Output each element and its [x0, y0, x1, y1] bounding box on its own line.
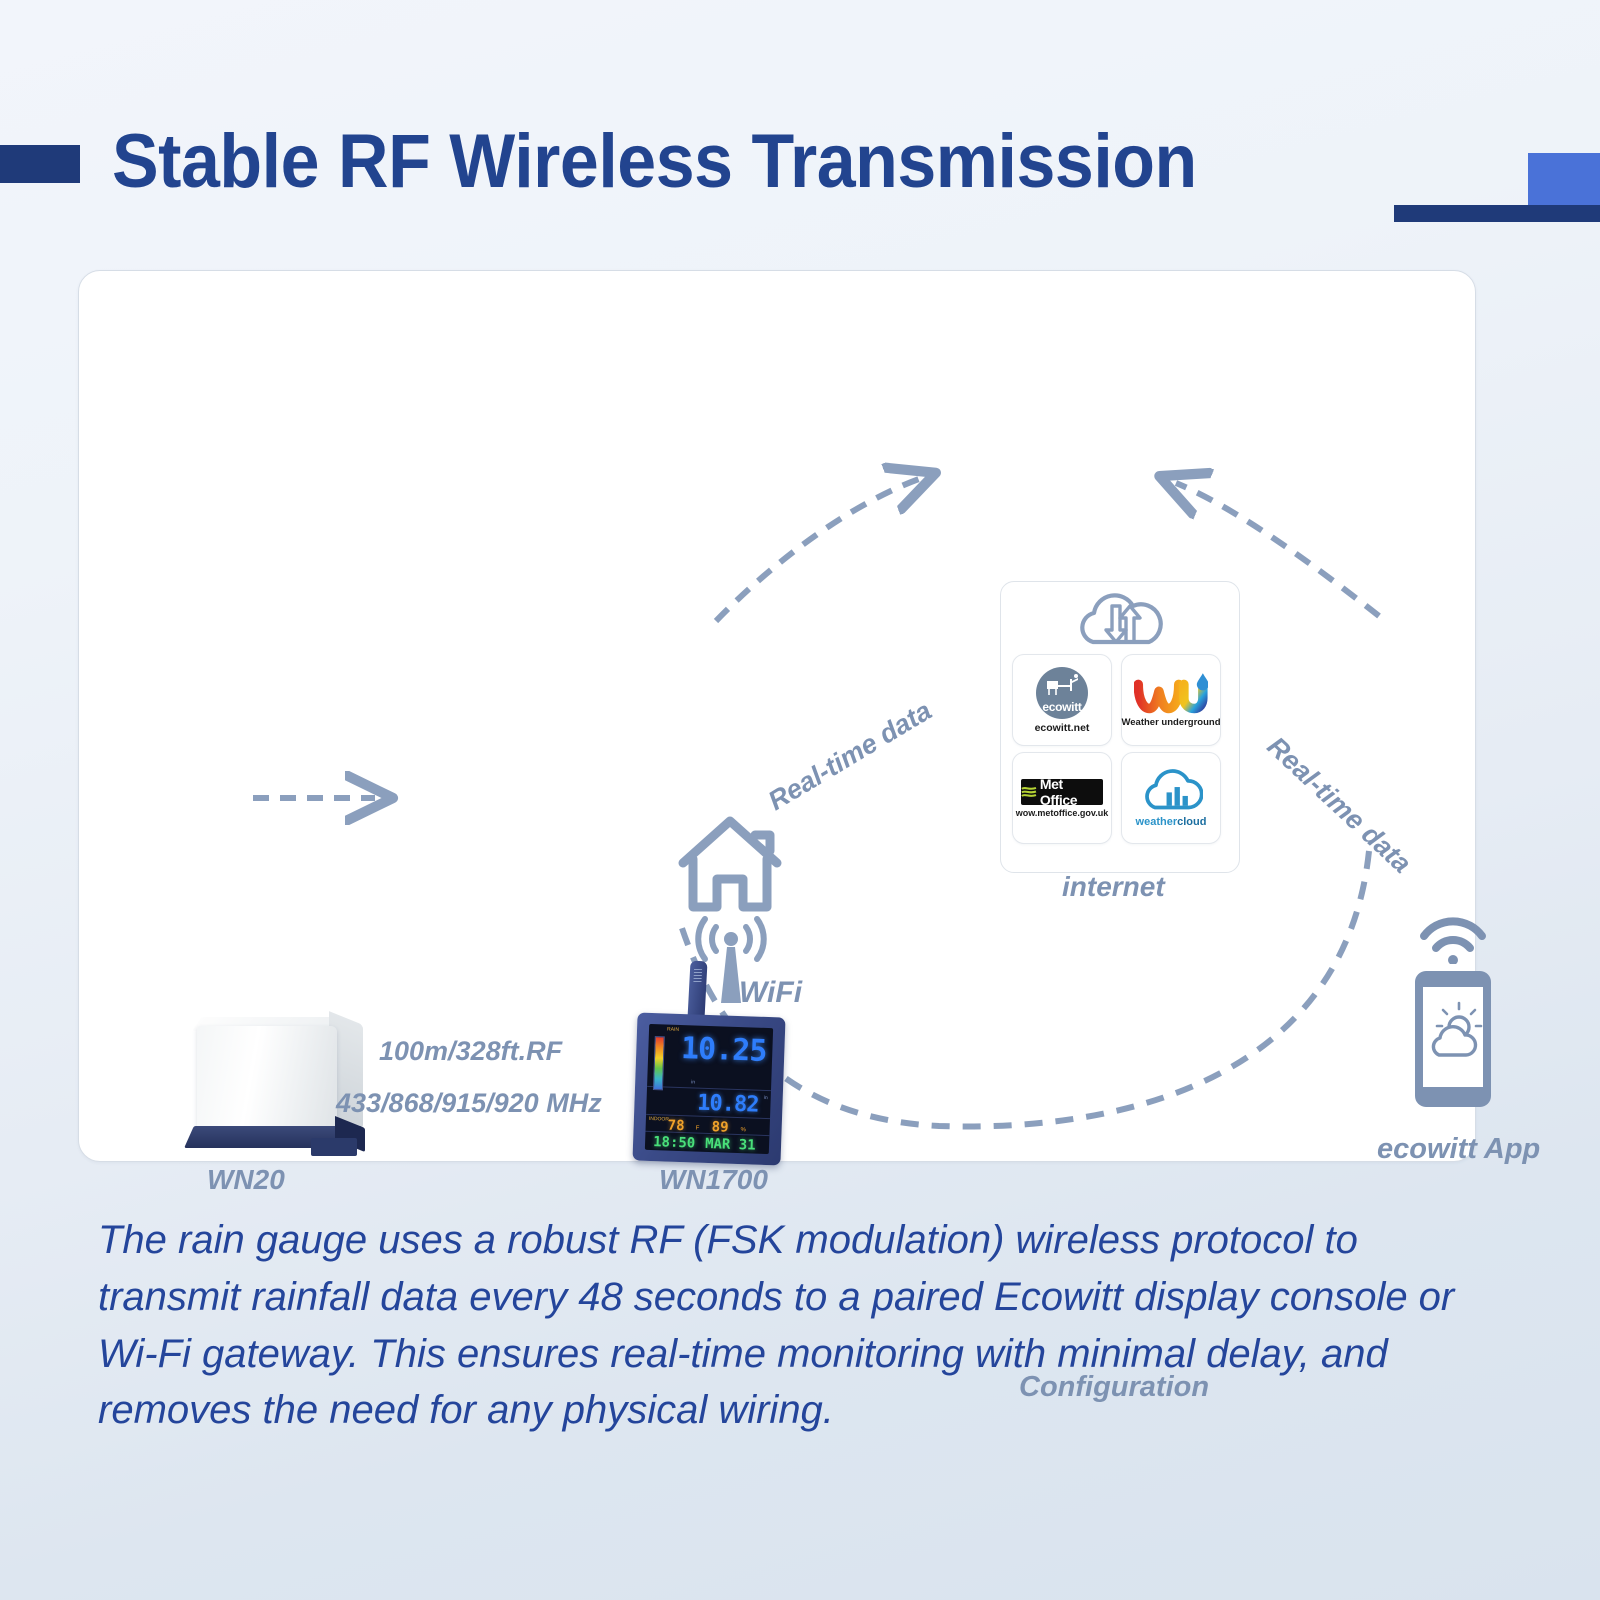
- service-tile-weather-underground[interactable]: Weather underground: [1121, 654, 1221, 746]
- phone-device: [1415, 971, 1491, 1107]
- wn20-body: [197, 1026, 337, 1131]
- service-tile-met-office[interactable]: Met Office wow.metoffice.gov.uk: [1012, 752, 1112, 844]
- console-rain-value: 10.25: [680, 1031, 766, 1069]
- title-accent-bar-left: [0, 145, 80, 183]
- wn1700-frame: RAIN 10.25 in 10.82 in INDOOR 78 F 89 % …: [632, 1012, 785, 1165]
- console-rain-row: RAIN 10.25 in: [647, 1024, 773, 1091]
- weathercloud-text-bold: cloud: [1177, 816, 1206, 828]
- service-caption-ecowitt: ecowitt.net: [1035, 722, 1090, 734]
- page-header: Stable RF Wireless Transmission: [0, 60, 1600, 190]
- wu-logo-icon: [1134, 672, 1208, 714]
- wn1700-console: RAIN 10.25 in 10.82 in INDOOR 78 F 89 % …: [635, 1001, 785, 1166]
- console-date-value: MAR 31: [705, 1135, 756, 1153]
- rf-frequency-label: 433/868/915/920 MHz: [336, 1088, 602, 1119]
- service-tile-weathercloud[interactable]: weathercloud: [1121, 752, 1221, 844]
- weathercloud-text-light: weather: [1136, 816, 1178, 828]
- console-weekly-value: 10.82: [697, 1090, 759, 1117]
- service-caption-met-office: wow.metoffice.gov.uk: [1016, 808, 1109, 818]
- console-clock-row: 18:50 MAR 31: [645, 1131, 770, 1154]
- wn1700-antenna-grill: [693, 969, 702, 983]
- console-temperature-unit: F: [696, 1125, 700, 1131]
- console-weekly-row: 10.82 in: [646, 1086, 771, 1118]
- wn1700-antenna: [687, 961, 707, 1020]
- ecowitt-logo-icon: ecowitt: [1036, 667, 1088, 719]
- console-time-value: 18:50: [653, 1134, 696, 1151]
- realtime-left-arrow-path: [716, 479, 919, 621]
- wn1700-screen: RAIN 10.25 in 10.82 in INDOOR 78 F 89 % …: [645, 1024, 773, 1154]
- phone-screen: [1423, 987, 1483, 1087]
- description-paragraph: The rain gauge uses a robust RF (FSK mod…: [98, 1212, 1498, 1439]
- phone-wifi-icon: [1417, 916, 1489, 964]
- met-office-logo-icon: Met Office: [1021, 779, 1103, 805]
- rain-color-bar: [653, 1036, 665, 1090]
- realtime-data-label-left: Real-time data: [763, 695, 937, 817]
- met-office-wave-icon: [1021, 785, 1037, 798]
- accent-bar-top-right: [1394, 205, 1600, 222]
- internet-panel: ecowitt ecowitt.net: [1000, 581, 1240, 873]
- ecowitt-app-label: ecowitt App: [1377, 1133, 1540, 1166]
- house-icon: [675, 811, 785, 916]
- console-indoor-tag: INDOOR: [649, 1115, 669, 1122]
- console-rain-unit: in: [691, 1079, 695, 1085]
- weather-sun-cloud-icon: [1423, 987, 1483, 1087]
- diagram-card: 100m/328ft.RF 433/868/915/920 MHz WiFi R…: [78, 270, 1476, 1162]
- rf-range-label: 100m/328ft.RF: [379, 1036, 562, 1067]
- wn20-foot: [311, 1138, 357, 1156]
- page-title: Stable RF Wireless Transmission: [112, 118, 1197, 205]
- internet-label: internet: [1062, 871, 1165, 903]
- wn20-label: WN20: [207, 1164, 285, 1196]
- service-caption-weather-underground: Weather underground: [1121, 717, 1220, 728]
- weathercloud-logo-icon: [1139, 769, 1203, 814]
- wn1700-label: WN1700: [659, 1164, 768, 1196]
- cloud-sync-icon: [1063, 590, 1177, 652]
- met-office-logo-text: Met Office: [1040, 776, 1103, 808]
- service-tile-ecowitt[interactable]: ecowitt ecowitt.net: [1012, 654, 1112, 746]
- realtime-data-label-right: Real-time data: [1261, 731, 1417, 880]
- console-weekly-unit: in: [764, 1094, 768, 1100]
- console-rain-tag: RAIN: [667, 1027, 679, 1033]
- accent-square-top-right: [1528, 153, 1600, 208]
- service-caption-weathercloud: weathercloud: [1136, 816, 1207, 828]
- console-humidity-unit: %: [740, 1127, 746, 1133]
